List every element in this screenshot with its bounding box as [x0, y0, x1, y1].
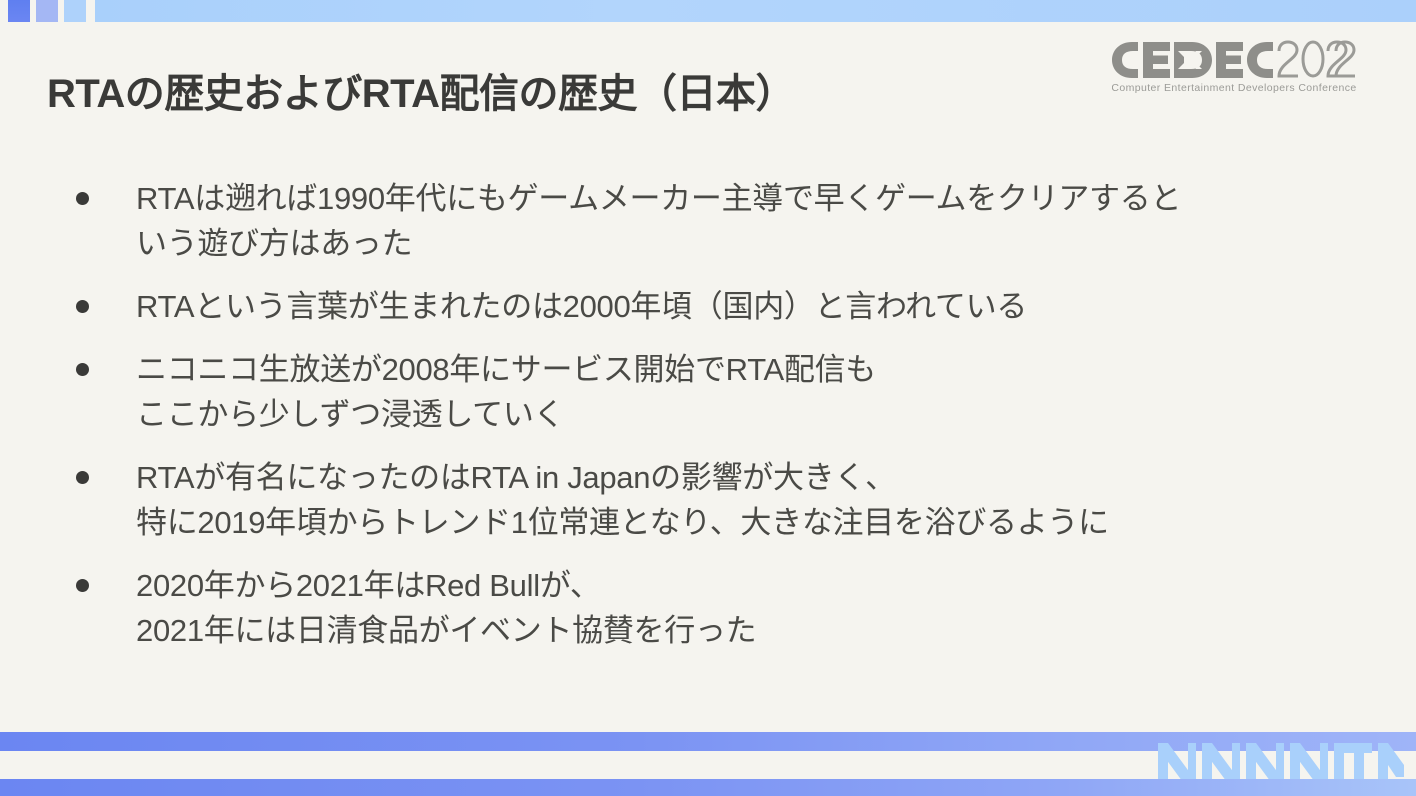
bullet-dot-icon	[76, 563, 136, 597]
bullet-line: 2021年には日清食品がイベント協賛を行った	[136, 608, 1376, 653]
bullet-line: RTAが有名になったのはRTA in Japanの影響が大きく、	[136, 455, 1376, 500]
bullet-line: RTAという言葉が生まれたのは2000年頃（国内）と言われている	[136, 284, 1376, 329]
bullet-dot-icon	[76, 347, 136, 381]
presentation-slide: Computer Entertainment Developers Confer…	[0, 0, 1416, 796]
bullet-line: ここから少しずつ浸透していく	[136, 392, 1376, 437]
top-bar-stripe	[95, 0, 1416, 22]
bullet-dot-icon	[76, 176, 136, 210]
bullet-line: いう遊び方はあった	[136, 221, 1376, 266]
cedec-logo-tagline: Computer Entertainment Developers Confer…	[1112, 82, 1356, 94]
top-decoration-bar	[0, 0, 1416, 22]
bullet-line: 2020年から2021年はRed Bullが、	[136, 563, 1376, 608]
top-square-2	[36, 0, 58, 22]
cedec-logo: Computer Entertainment Developers Confer…	[1112, 38, 1356, 96]
bullet-list: RTAは遡れば1990年代にもゲームメーカー主導で早くゲームをクリアすると いう…	[76, 176, 1376, 671]
list-item-text: RTAという言葉が生まれたのは2000年頃（国内）と言われている	[136, 284, 1376, 329]
list-item: 2020年から2021年はRed Bullが、 2021年には日清食品がイベント…	[76, 563, 1376, 653]
list-item-text: RTAは遡れば1990年代にもゲームメーカー主導で早くゲームをクリアすると いう…	[136, 176, 1376, 266]
bottom-decoration-bar-lower	[0, 779, 1416, 796]
list-item-text: ニコニコ生放送が2008年にサービス開始でRTA配信も ここから少しずつ浸透して…	[136, 347, 1376, 437]
bullet-dot-icon	[76, 455, 136, 489]
top-square-1	[8, 0, 30, 22]
page-title: RTAの歴史およびRTA配信の歴史（日本）	[47, 61, 795, 119]
bullet-line: ニコニコ生放送が2008年にサービス開始でRTA配信も	[136, 347, 1376, 392]
list-item: ニコニコ生放送が2008年にサービス開始でRTA配信も ここから少しずつ浸透して…	[76, 347, 1376, 437]
cedec-logo-graphic: Computer Entertainment Developers Confer…	[1112, 38, 1356, 96]
bullet-line: RTAは遡れば1990年代にもゲームメーカー主導で早くゲームをクリアすると	[136, 176, 1376, 221]
list-item: RTAが有名になったのはRTA in Japanの影響が大きく、 特に2019年…	[76, 455, 1376, 545]
list-item-text: RTAが有名になったのはRTA in Japanの影響が大きく、 特に2019年…	[136, 455, 1376, 545]
list-item-text: 2020年から2021年はRed Bullが、 2021年には日清食品がイベント…	[136, 563, 1376, 653]
list-item: RTAは遡れば1990年代にもゲームメーカー主導で早くゲームをクリアすると いう…	[76, 176, 1376, 266]
bullet-dot-icon	[76, 284, 136, 318]
list-item: RTAという言葉が生まれたのは2000年頃（国内）と言われている	[76, 284, 1376, 329]
top-square-3	[64, 0, 86, 22]
bullet-line: 特に2019年頃からトレンド1位常連となり、大きな注目を浴びるように	[136, 500, 1376, 545]
